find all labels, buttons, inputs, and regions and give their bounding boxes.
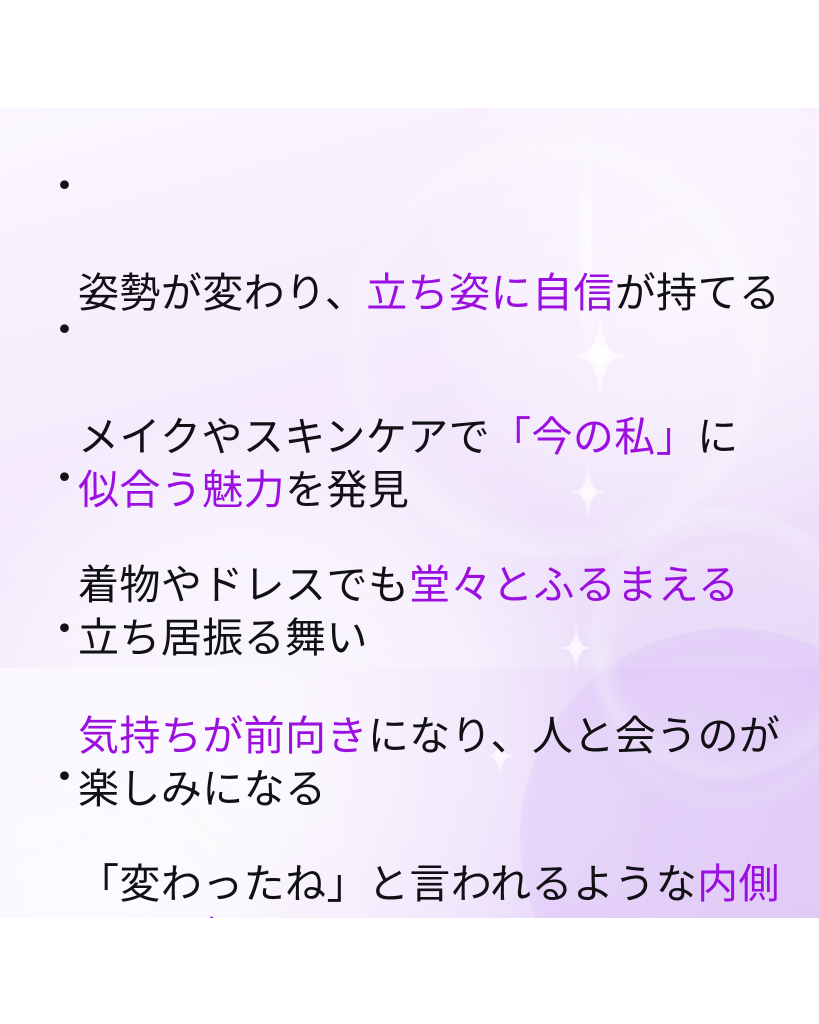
list-item-text: 「変わったね」と言われるような内側 からの輝き	[78, 861, 780, 918]
plain-phrase: 着物やドレスでも	[78, 562, 409, 608]
highlighted-phrase: 堂々とふるまえる	[409, 562, 739, 608]
bullet-glyph-icon: ・	[44, 160, 85, 213]
list-item: ・ 「変わったね」と言われるような内側 からの輝き	[44, 751, 819, 918]
bullet-glyph-icon: ・	[44, 304, 85, 357]
bullet-glyph-icon: ・	[44, 603, 85, 656]
bullet-glyph-icon: ・	[44, 751, 85, 804]
bullet-glyph-icon: ・	[44, 452, 85, 505]
list-item: ・ 姿勢が変わり、立ち姿に自信が持てる	[44, 160, 819, 320]
slide-canvas: ・ 姿勢が変わり、立ち姿に自信が持てる ・ メイクやスキンケアで「今の私」に 似…	[0, 0, 819, 1024]
lavender-gradient-panel: ・ 姿勢が変わり、立ち姿に自信が持てる ・ メイクやスキンケアで「今の私」に 似…	[0, 108, 819, 918]
bullet-list: ・ 姿勢が変わり、立ち姿に自信が持てる ・ メイクやスキンケアで「今の私」に 似…	[0, 108, 819, 918]
plain-phrase: 「変わったね」と言われるような	[78, 861, 697, 907]
